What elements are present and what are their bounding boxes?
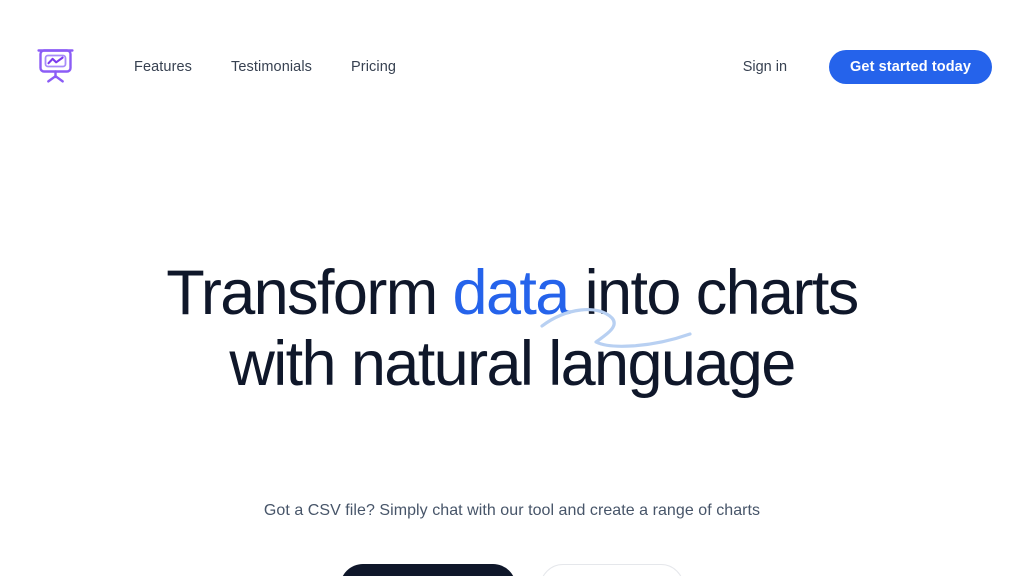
hero-cta-group: Get started today Book a demo [0, 564, 1024, 576]
hero-book-demo-button[interactable]: Book a demo [540, 564, 684, 576]
hero-section: Transform data into charts with natural … [0, 130, 1024, 576]
headline-text-before: Transform [166, 258, 452, 328]
nav-item-pricing[interactable]: Pricing [351, 57, 396, 77]
site-header: Features Testimonials Pricing Sign in Ge… [0, 0, 1024, 130]
nav-item-testimonials[interactable]: Testimonials [231, 57, 312, 77]
navbar-actions: Sign in Get started today [743, 50, 992, 84]
landing-page: Features Testimonials Pricing Sign in Ge… [0, 0, 1024, 576]
logo-link[interactable] [36, 46, 75, 86]
primary-nav: Features Testimonials Pricing [134, 57, 396, 77]
hero-get-started-button[interactable]: Get started today [340, 564, 516, 576]
nav-item-features[interactable]: Features [134, 57, 192, 77]
navbar: Features Testimonials Pricing Sign in Ge… [0, 46, 1024, 88]
headline-accent-word: data [453, 258, 569, 328]
hero-subtitle: Got a CSV file? Simply chat with our too… [132, 498, 892, 524]
get-started-button[interactable]: Get started today [829, 50, 992, 84]
sign-in-link[interactable]: Sign in [743, 57, 787, 77]
page-title: Transform data into charts with natural … [132, 258, 892, 400]
presentation-chart-icon [36, 46, 75, 86]
